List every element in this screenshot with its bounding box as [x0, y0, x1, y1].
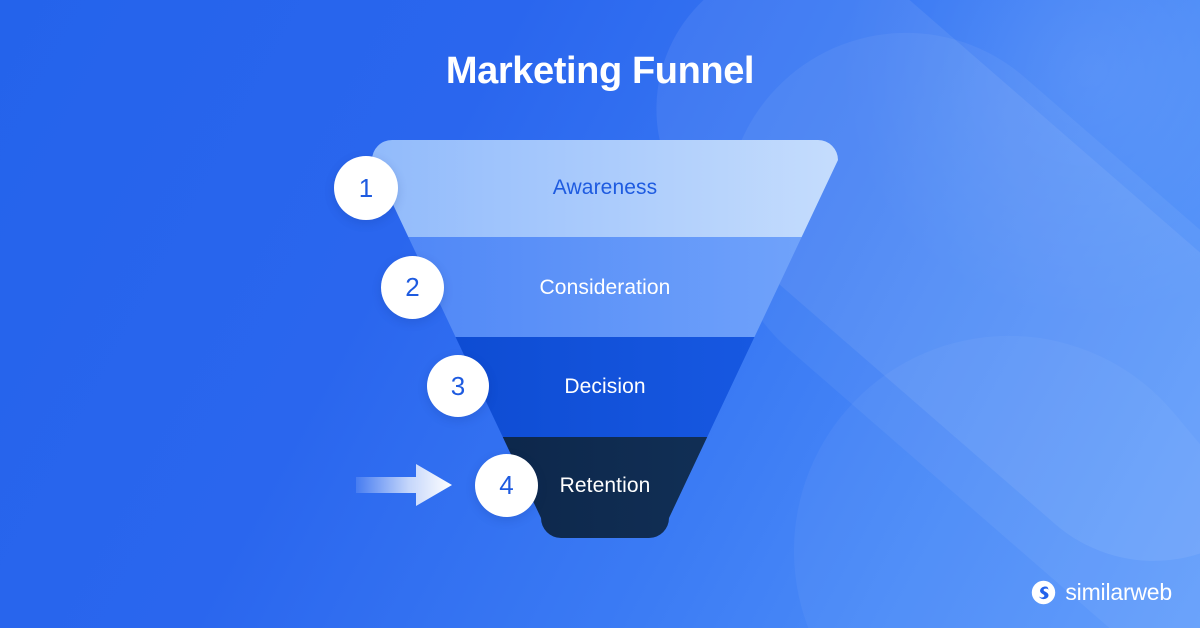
funnel-badge-2-number: 2	[405, 272, 419, 303]
funnel-infographic-canvas: Marketing Funnel	[0, 0, 1200, 628]
funnel-badge-4-number: 4	[499, 470, 513, 501]
page-title: Marketing Funnel	[0, 50, 1200, 93]
similarweb-wordmark: similarweb	[1065, 579, 1172, 606]
funnel-badge-4[interactable]: 4	[475, 454, 538, 517]
similarweb-logo-icon	[1031, 580, 1056, 605]
pointer-arrow-icon	[356, 464, 452, 506]
funnel-badge-3[interactable]: 3	[427, 355, 489, 417]
funnel-badge-1-number: 1	[359, 173, 373, 204]
funnel-label-awareness: Awareness	[372, 176, 838, 200]
similarweb-logo[interactable]: similarweb	[1031, 579, 1172, 606]
funnel-badge-2[interactable]: 2	[381, 256, 444, 319]
funnel-badge-3-number: 3	[451, 371, 465, 402]
funnel-badge-1[interactable]: 1	[334, 156, 398, 220]
